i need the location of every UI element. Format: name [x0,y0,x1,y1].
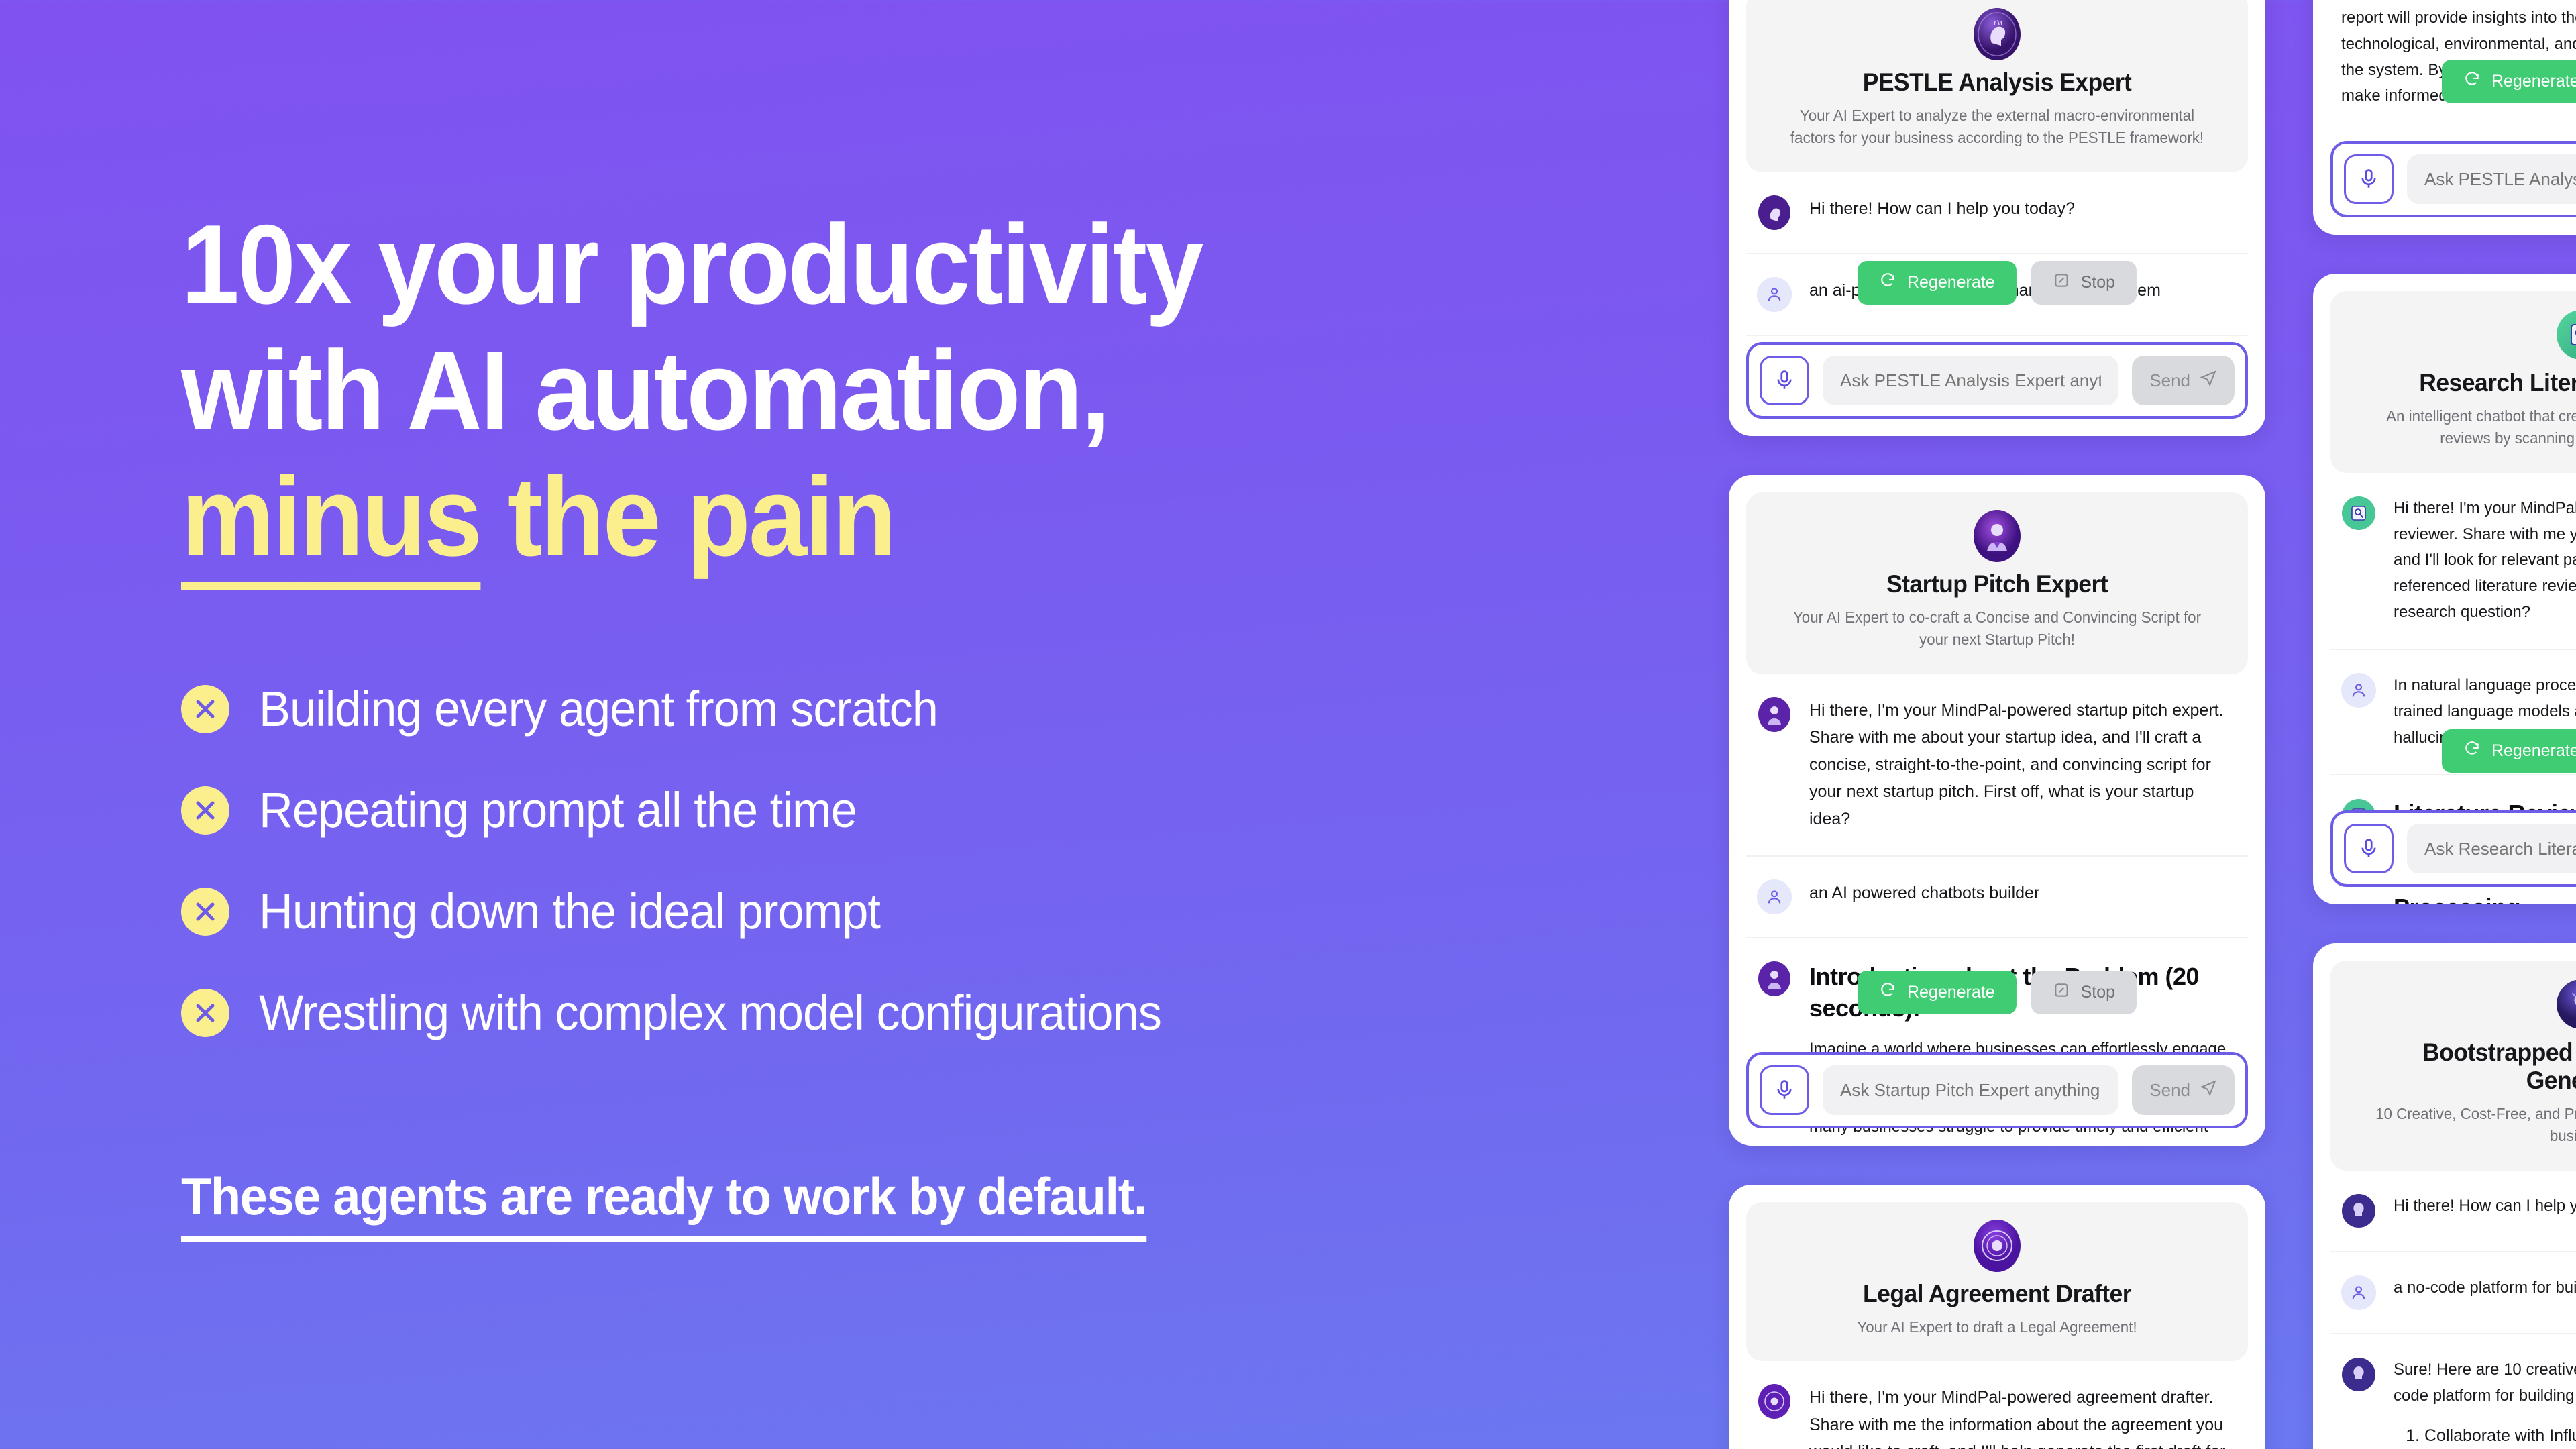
message-composer: Send [2330,141,2576,217]
message-text: an AI powered chatbots builder [1809,879,2237,907]
list-item: Hunting down the ideal prompt [181,883,1717,940]
assistant-avatar [1757,195,1792,230]
chat-card-column-middle: PESTLE Analysis Expert Your AI Expert to… [1729,0,2265,1449]
regenerate-button[interactable]: Regenerate [2442,60,2576,103]
card-header: Legal Agreement Drafter Your AI Expert t… [1746,1202,2248,1361]
message-text: Sure! Here are 10 creative marketing ide… [2394,1357,2576,1409]
user-avatar-icon [1757,879,1792,914]
pain-point-label: Building every agent from scratch [259,680,938,737]
message-text: Hi there! I'm your MindPal-powered resea… [2394,496,2576,626]
regenerate-label: Regenerate [1907,983,1995,1002]
assistant-avatar [1757,697,1792,732]
list-item: Repeating prompt all the time [181,782,1717,839]
chat-card-legal-agreement-drafter: Legal Agreement Drafter Your AI Expert t… [1729,1185,2265,1449]
regenerate-button[interactable]: Regenerate [1858,971,2017,1014]
microphone-icon[interactable] [2344,154,2394,204]
chat-message-user: a no-code platform for building and mone… [2330,1252,2576,1334]
message-composer: Send [1746,342,2248,419]
card-title: Legal Agreement Drafter [1782,1280,2212,1308]
card-header: Bootstrapped Marketing Idea Generator 10… [2330,961,2576,1171]
card-header: Startup Pitch Expert Your AI Expert to c… [1746,492,2248,674]
headline-line-3-rest: the pain [480,453,894,580]
card-title: Research Literature Reviewer [2366,369,2576,397]
card-title: PESTLE Analysis Expert [1782,68,2212,97]
user-avatar-icon [2341,673,2376,708]
headline-line-2: with AI automation, [181,327,1108,453]
stop-button[interactable]: Stop [2031,971,2137,1014]
assistant-avatar [1757,1384,1792,1419]
closing-statement: These agents are ready to work by defaul… [181,1166,1146,1242]
send-label: Send [2149,370,2190,391]
card-subtitle: 10 Creative, Cost-Free, and Practical Ma… [2364,1103,2576,1148]
card-header: PESTLE Analysis Expert Your AI Expert to… [1746,0,2248,172]
generation-controls: Regenerate Stop [2442,729,2576,773]
lightbulb-circuit-icon [2555,978,2576,1030]
message-composer: Send [1746,1052,2248,1128]
regenerate-label: Regenerate [1907,273,1995,292]
x-icon [181,786,229,835]
x-icon [181,888,229,936]
chat-message-assistant: Hi there! How can I help you today? [1746,172,2248,254]
chat-card-column-right: The purpose of this analysis is to asses… [2313,0,2576,1449]
card-header: Research Literature Reviewer An intellig… [2330,291,2576,473]
chat-card-pestle-analysis-expert: PESTLE Analysis Expert Your AI Expert to… [1729,0,2265,436]
list-item: Building every agent from scratch [181,680,1717,737]
generation-controls: Regenerate Stop [2442,60,2576,103]
search-input[interactable] [2407,824,2576,873]
message-text: Hi there! How can I help you today? [2394,1193,2576,1220]
chat-message-assistant: Hi there, I'm your MindPal-powered start… [1746,674,2248,857]
assistant-avatar [1757,961,1792,996]
generation-controls: Regenerate Stop [1858,971,2137,1014]
card-subtitle: Your AI Expert to co-craft a Concise and… [1780,606,2214,651]
pain-point-list: Building every agent from scratch Repeat… [181,680,1717,1041]
stop-label: Stop [2081,983,2115,1002]
assistant-avatar [2341,496,2376,531]
card-subtitle: Your AI Expert to analyze the external m… [1780,105,2214,150]
research-book-magnifier-icon [2555,309,2576,361]
send-button[interactable]: Send [2132,1065,2235,1115]
user-avatar-icon [2341,1275,2376,1310]
list-item: Collaborate with Influencers: Reach out … [2424,1422,2576,1449]
generation-controls: Regenerate Stop [1858,261,2137,305]
regenerate-button[interactable]: Regenerate [2442,729,2576,773]
pestle-head-circuit-icon [1971,8,2023,60]
stop-square-icon [2053,272,2070,294]
headline-emphasis: minus [181,453,480,590]
chat-card-startup-pitch-expert: Startup Pitch Expert Your AI Expert to c… [1729,475,2265,1146]
microphone-icon[interactable] [1760,356,1809,405]
chat-card-research-literature-reviewer: Research Literature Reviewer An intellig… [2313,274,2576,904]
refresh-icon [2463,70,2481,93]
chat-message-assistant: Hi there! How can I help you today? [2330,1171,2576,1252]
card-subtitle: Your AI Expert to draft a Legal Agreemen… [1780,1316,2214,1338]
microphone-icon[interactable] [1760,1065,1809,1115]
paper-plane-icon [2200,370,2217,392]
regenerate-button[interactable]: Regenerate [1858,261,2017,305]
list-item: Wrestling with complex model configurati… [181,984,1717,1041]
paper-plane-icon [2200,1079,2217,1102]
chat-message-assistant: Hi there, I'm your MindPal-powered agree… [1746,1361,2248,1449]
card-subtitle: An intelligent chatbot that creates well… [2364,405,2576,450]
pain-point-label: Repeating prompt all the time [259,782,857,839]
search-input[interactable] [2407,154,2576,204]
message-text: Hi there, I'm your MindPal-powered start… [1809,697,2237,833]
message-text: a no-code platform for building and mone… [2394,1275,2576,1301]
assistant-avatar [2341,1193,2376,1228]
hero-marketing-pane: 10x your productivity with AI automation… [0,0,1717,1449]
startup-pitch-person-icon [1971,510,2023,562]
pain-point-label: Hunting down the ideal prompt [259,883,880,940]
chat-message-assistant: Hi there! I'm your MindPal-powered resea… [2330,473,2576,650]
regenerate-label: Regenerate [2491,72,2576,91]
message-text: Hi there! How can I help you today? [1809,195,2237,223]
refresh-icon [2463,740,2481,762]
user-avatar-icon [1757,277,1792,312]
legal-seal-icon [1971,1220,2023,1272]
chat-message-assistant: Sure! Here are 10 creative marketing ide… [2330,1334,2576,1449]
refresh-icon [1879,981,1896,1004]
assistant-avatar [2341,1357,2376,1392]
marketing-ideas-list: Collaborate with Influencers: Reach out … [2394,1422,2576,1449]
stop-button[interactable]: Stop [2031,261,2137,305]
page-title: 10x your productivity with AI automation… [181,201,1523,580]
refresh-icon [1879,272,1896,294]
send-button[interactable]: Send [2132,356,2235,405]
chat-card-bootstrapped-marketing-idea-generator: Bootstrapped Marketing Idea Generator 10… [2313,943,2576,1449]
x-icon [181,685,229,733]
pain-point-label: Wrestling with complex model configurati… [259,984,1161,1041]
chat-card-pestle-analysis-expert-tail: The purpose of this analysis is to asses… [2313,0,2576,235]
stop-label: Stop [2081,273,2115,292]
search-input[interactable] [1823,1065,2118,1115]
headline-line-1: 10x your productivity [181,201,1202,327]
microphone-icon[interactable] [2344,824,2394,873]
x-icon [181,989,229,1037]
stop-square-icon [2053,981,2070,1004]
message-subheading: Introduction: [1809,433,2237,436]
search-input[interactable] [1823,356,2118,405]
message-text: Hi there, I'm your MindPal-powered agree… [1809,1384,2237,1449]
card-title: Bootstrapped Marketing Idea Generator [2366,1038,2576,1095]
send-label: Send [2149,1080,2190,1101]
card-title: Startup Pitch Expert [1782,570,2212,598]
message-composer: Send [2330,810,2576,887]
chat-message-user: an AI powered chatbots builder [1746,857,2248,938]
regenerate-label: Regenerate [2491,741,2576,761]
